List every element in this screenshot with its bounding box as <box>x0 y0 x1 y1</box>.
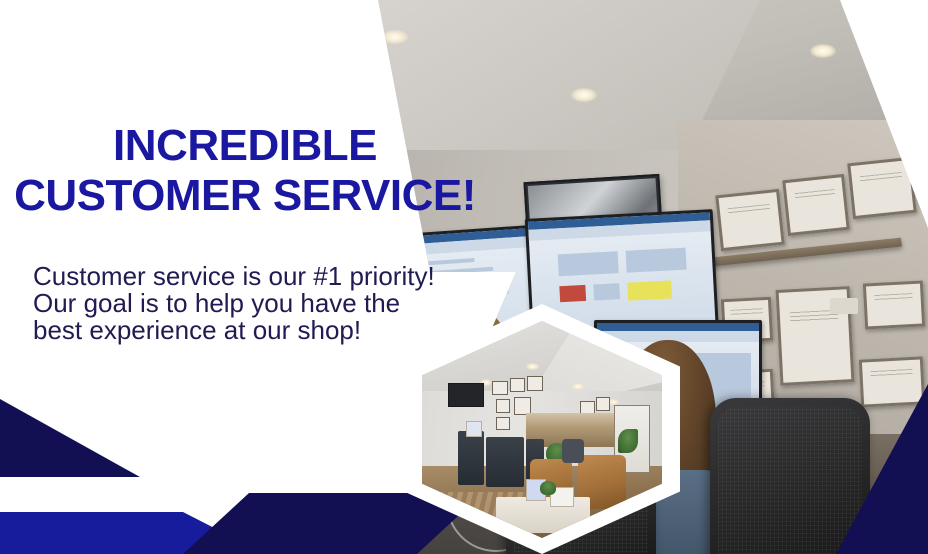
wall-frame <box>496 417 510 430</box>
chair-mesh <box>718 406 862 554</box>
hexagon-photo-waiting-room <box>422 321 662 538</box>
headline-line-1: INCREDIBLE <box>0 124 490 168</box>
storage-cabinet <box>458 431 484 485</box>
office-chair <box>710 398 870 554</box>
subcopy-line-3: best experience at our shop! <box>33 317 503 344</box>
wall-frame <box>510 378 525 392</box>
coffee-machine <box>466 421 482 437</box>
ceiling-light-icon <box>810 44 836 58</box>
ceiling-light-icon <box>572 383 584 390</box>
wall-frame <box>492 381 508 395</box>
potted-plant <box>618 429 638 453</box>
headline: INCREDIBLE CUSTOMER SERVICE! <box>0 124 490 218</box>
headline-line-2: CUSTOMER SERVICE! <box>0 174 490 218</box>
waiting-chair <box>562 439 584 463</box>
certificate-frame <box>715 189 785 251</box>
wall-frame <box>527 376 543 391</box>
certificate-frame <box>863 280 925 329</box>
certificate-frame <box>859 356 925 407</box>
marketing-banner: INCREDIBLE CUSTOMER SERVICE! Customer se… <box>0 0 928 554</box>
storage-cabinet <box>486 437 524 487</box>
subcopy: Customer service is our #1 priority! Our… <box>33 263 503 344</box>
wall-frame <box>496 399 510 413</box>
ceiling-light-icon <box>526 363 539 370</box>
ceiling-light-icon <box>571 88 597 102</box>
subcopy-line-2: Our goal is to help you have the <box>33 290 503 317</box>
wall-frame <box>596 397 610 411</box>
subcopy-line-1: Customer service is our #1 priority! <box>33 263 503 290</box>
wall-outlet <box>830 298 858 314</box>
coffee-table <box>496 497 590 533</box>
certificate-frame <box>782 174 850 236</box>
waiting-room-television <box>448 383 484 407</box>
table-plant <box>540 481 556 495</box>
